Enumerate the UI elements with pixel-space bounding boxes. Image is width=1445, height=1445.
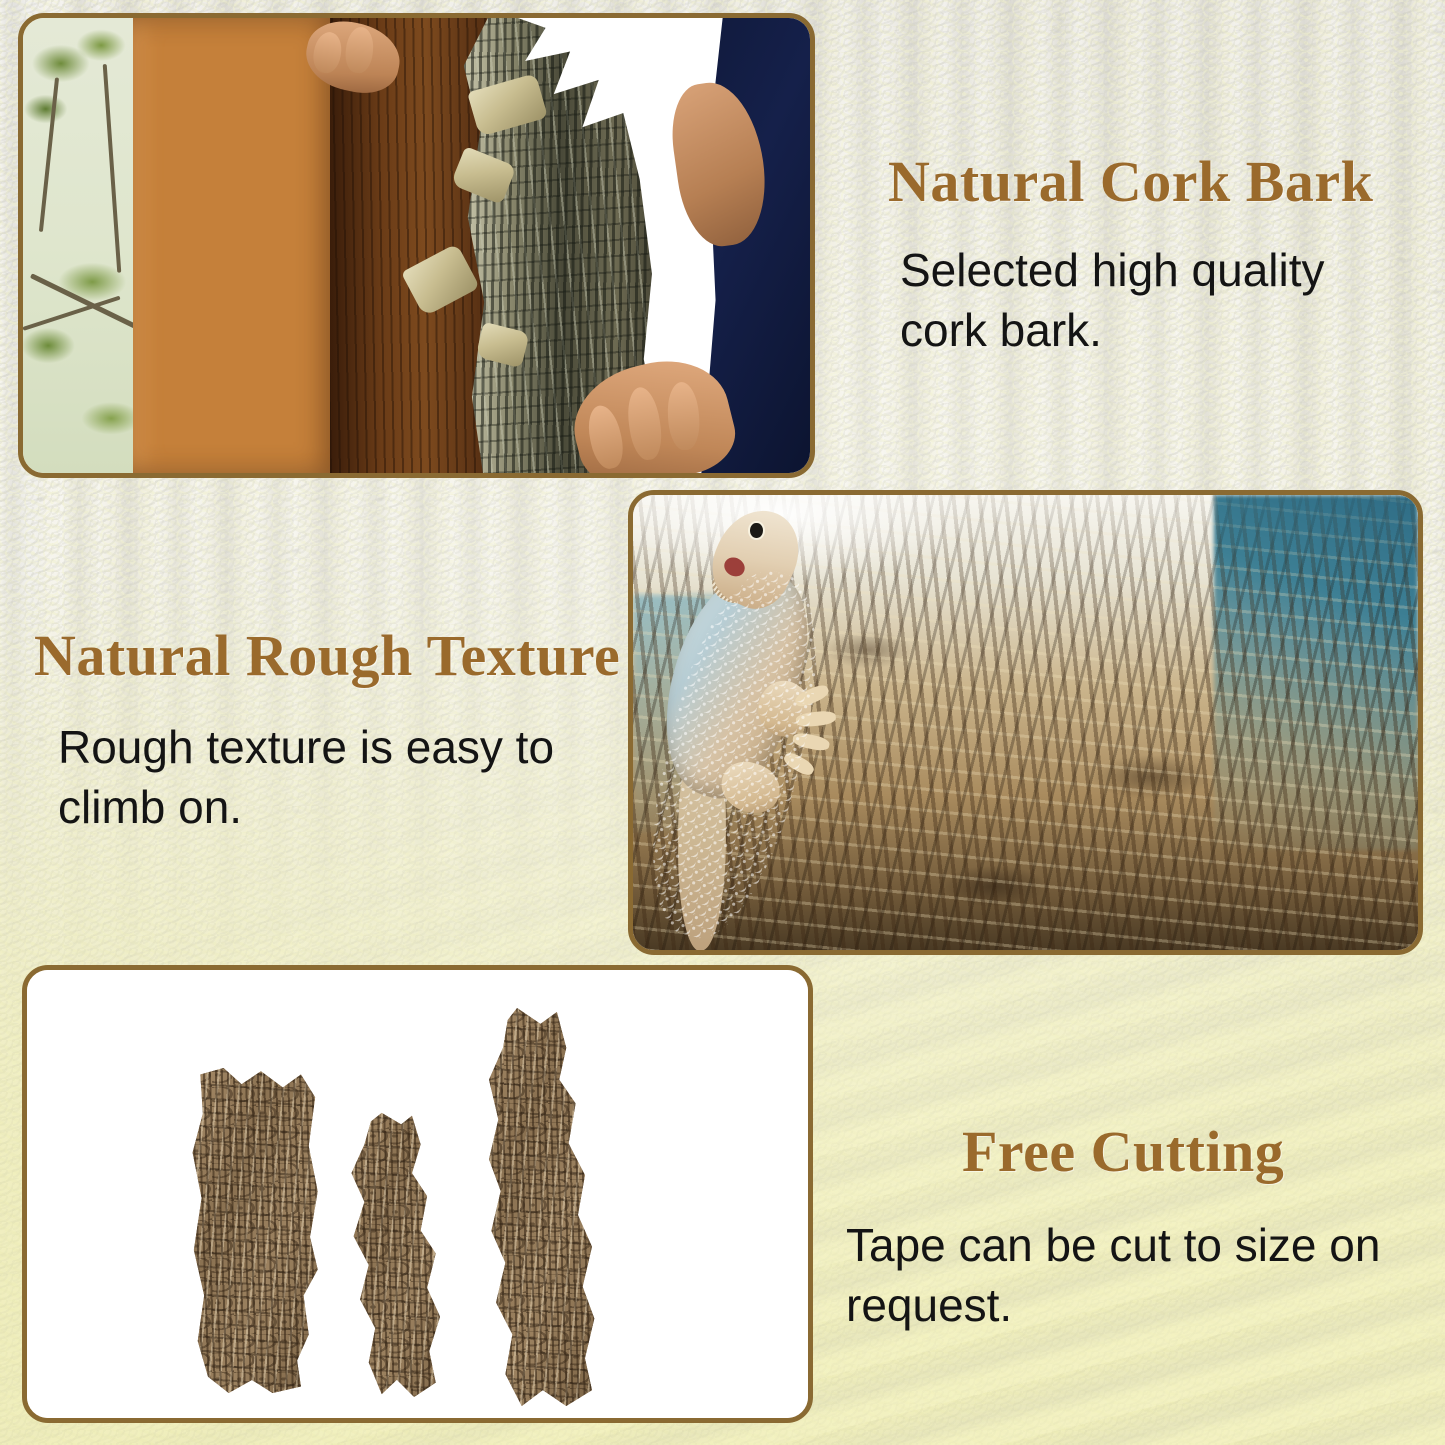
bearded-dragon	[641, 504, 908, 950]
cork-harvest-photo	[23, 18, 810, 473]
lizard-scale-spots	[633, 556, 844, 950]
product-infographic-poster: Natural Cork Bark Selected high quality …	[0, 0, 1445, 1445]
feature-heading-natural-cork-bark: Natural Cork Bark	[888, 148, 1373, 215]
feature-body-natural-cork-bark: Selected high quality cork bark.	[900, 241, 1370, 361]
lizard-eye	[750, 523, 762, 538]
feature-heading-free-cutting: Free Cutting	[962, 1118, 1284, 1185]
forest-background	[23, 18, 149, 473]
lizard-bark-photo-panel	[628, 490, 1423, 955]
stripped-trunk	[133, 18, 338, 473]
lizard-on-cork-bark-photo	[633, 495, 1418, 950]
feature-heading-natural-rough-texture: Natural Rough Texture	[34, 622, 620, 689]
feature-body-free-cutting: Tape can be cut to size on request.	[846, 1216, 1406, 1336]
feature-body-natural-rough-texture: Rough texture is easy to climb on.	[58, 718, 568, 838]
bark-strip-left	[190, 1068, 319, 1393]
cork-harvest-photo-panel	[18, 13, 815, 478]
